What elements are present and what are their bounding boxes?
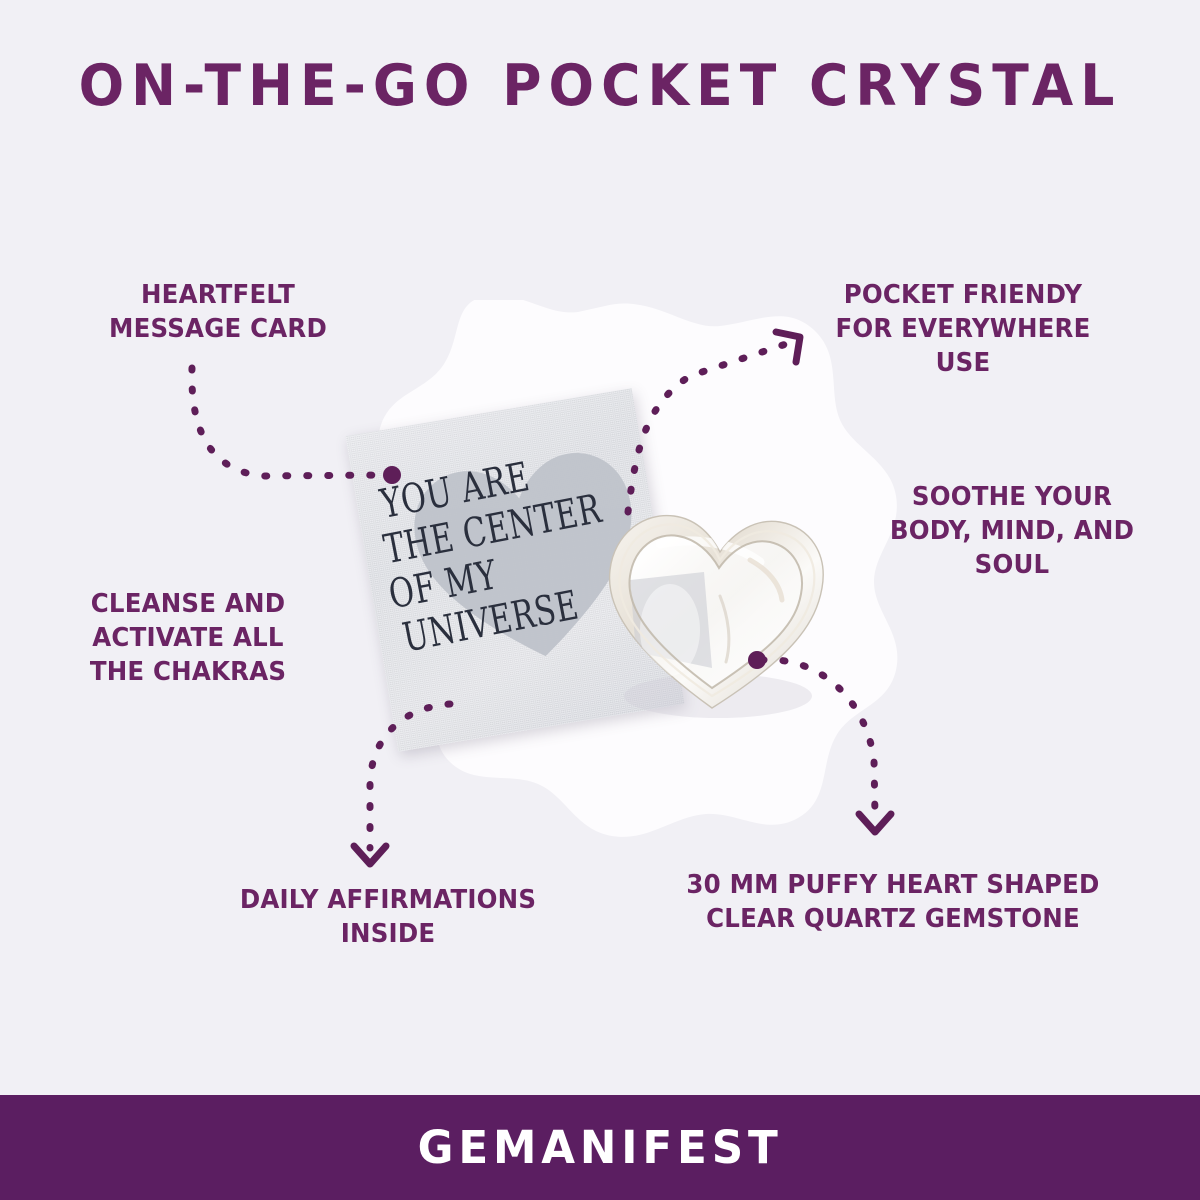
callout-line: CLEAR QUARTZ GEMSTONE <box>677 903 1109 937</box>
callout-heartfelt-message-card: HEARTFELT MESSAGE CARD <box>55 279 381 347</box>
callout-line: 30 MM PUFFY HEART SHAPED <box>677 869 1109 903</box>
brand-wordmark: GEMANIFEST <box>418 1121 783 1174</box>
quartz-heart-gemstone-photo <box>600 500 830 720</box>
callout-line: BODY, MIND, AND <box>868 515 1156 549</box>
callout-pocket-friendly: POCKET FRIENDY FOR EVERYWHERE USE <box>805 279 1122 381</box>
callout-line: FOR EVERYWHERE <box>805 313 1122 347</box>
chevron-arrow-down-icon-affirmations <box>354 846 386 864</box>
callout-line: HEARTFELT <box>55 279 381 313</box>
page-title: ON-THE-GO POCKET CRYSTAL <box>36 58 1164 115</box>
product-photo-stage: YOU ARE THE CENTER OF MY UNIVERSE <box>300 300 910 840</box>
callout-line: SOUL <box>868 549 1156 583</box>
callout-quartz-gemstone: 30 MM PUFFY HEART SHAPED CLEAR QUARTZ GE… <box>677 869 1109 937</box>
callout-line: SOOTHE YOUR <box>868 481 1156 515</box>
callout-line: MESSAGE CARD <box>55 313 381 347</box>
callout-line: INSIDE <box>206 918 571 952</box>
callout-line: CLEANSE AND <box>34 588 341 622</box>
callout-line: ACTIVATE ALL <box>34 622 341 656</box>
callout-line: USE <box>805 347 1122 381</box>
callout-cleanse-activate-chakras: CLEANSE AND ACTIVATE ALL THE CHAKRAS <box>34 588 341 690</box>
callout-line: THE CHAKRAS <box>34 656 341 690</box>
callout-line: DAILY AFFIRMATIONS <box>206 884 571 918</box>
callout-soothe-body-mind-soul: SOOTHE YOUR BODY, MIND, AND SOUL <box>868 481 1156 583</box>
poster-canvas: ON-THE-GO POCKET CRYSTAL YOU ARE THE CEN… <box>0 0 1200 1200</box>
callout-daily-affirmations: DAILY AFFIRMATIONS INSIDE <box>206 884 571 952</box>
callout-line: POCKET FRIENDY <box>805 279 1122 313</box>
footer-bar: GEMANIFEST <box>0 1095 1200 1200</box>
